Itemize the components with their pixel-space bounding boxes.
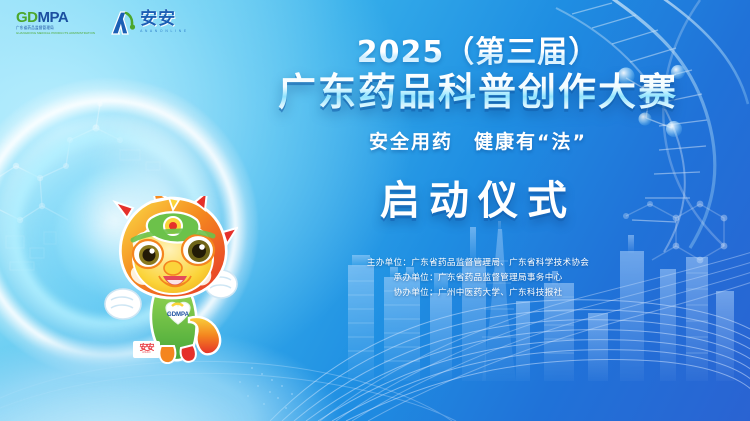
organizer-list: 主办单位：广东省药品监督管理局、广东省科学技术协会 承办单位：广东省药品监督管理…	[268, 256, 688, 300]
mascot-left-fist	[105, 289, 141, 319]
anan-title-en: A N A N O N L I N E	[140, 30, 187, 33]
lion-dance-mascot: GDMPA	[103, 196, 238, 364]
gdmpa-subtitle-en: GUANGDONG MEDICAL PRODUCTS ADMINISTRATIO…	[16, 32, 95, 35]
organizer-line-undertaker: 承办单位：广东省药品监督管理局事务中心	[268, 271, 688, 286]
anan-title-cn: 安安	[140, 11, 187, 28]
bottom-left-swoosh	[0, 204, 501, 421]
gdmpa-wordmark: GDMPA	[16, 10, 68, 25]
organizer-line-coorganizer: 协办单位：广州中医药大学、广东科技报社	[268, 286, 688, 301]
event-poster: GDMPA 广东省药品监督管理局 GUANGDONG MEDICAL PRODU…	[0, 0, 750, 421]
headline-block: 2025（第三届） 广东药品科普创作大赛 安全用药 健康有“法” 启动仪式	[268, 36, 688, 226]
mascot-badge-text: GDMPA	[167, 312, 190, 318]
seal-en-text: ANAN	[142, 352, 150, 355]
city-skyline-decor	[330, 221, 750, 421]
anan-a-mark-icon	[111, 10, 137, 35]
halftone-dots-decor	[239, 367, 293, 409]
gdmpa-gd-text: GD	[16, 9, 38, 26]
slogan-text: 安全用药 健康有“法”	[268, 127, 688, 154]
main-title: 广东药品科普创作大赛	[268, 71, 688, 115]
year-edition-title: 2025（第三届）	[268, 36, 688, 69]
gdmpa-mpa-text: MPA	[38, 9, 69, 26]
gdmpa-subtitle-cn: 广东省药品监督管理局	[16, 27, 54, 31]
organizer-line-host: 主办单位：广东省药品监督管理局、广东省科学技术协会	[268, 256, 688, 271]
event-name-title: 启动仪式	[268, 168, 688, 226]
gdmpa-logo[interactable]: GDMPA 广东省药品监督管理局 GUANGDONG MEDICAL PRODU…	[16, 10, 95, 35]
anan-text-block: 安安 A N A N O N L I N E	[140, 11, 187, 33]
logo-bar: GDMPA 广东省药品监督管理局 GUANGDONG MEDICAL PRODU…	[16, 10, 187, 35]
anan-seal-stamp: 安安 ANAN	[133, 341, 160, 358]
anan-logo[interactable]: 安安 A N A N O N L I N E	[111, 10, 187, 35]
